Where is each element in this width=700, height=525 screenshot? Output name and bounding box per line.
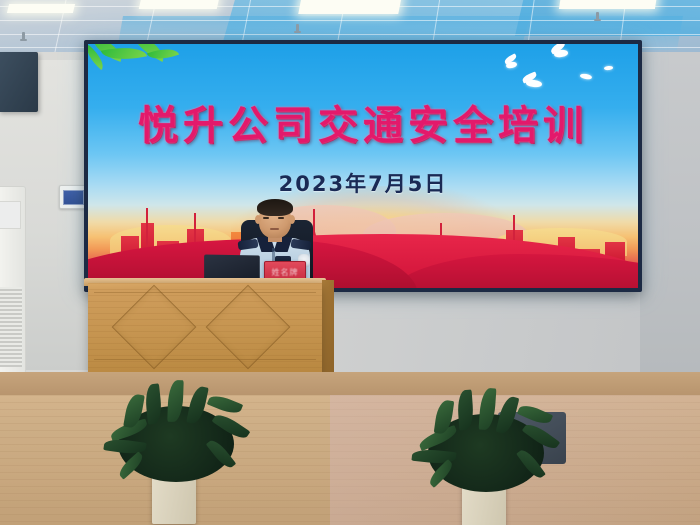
nameplate-text: 姓名牌: [265, 267, 305, 278]
floor-air-conditioner: [0, 186, 26, 374]
recessed-ceiling-light: [559, 0, 657, 9]
screen-date: 2023年7月5日: [88, 168, 638, 198]
mouth: [270, 228, 279, 230]
right-wall: [640, 28, 700, 373]
sprinkler-head: [596, 12, 599, 20]
podium-trim-line: [94, 359, 316, 360]
eye-left: [263, 217, 269, 219]
ear-left: [255, 215, 261, 224]
training-room-photo: 悦升公司交通安全培训 2023年7月5日 姓名牌: [0, 0, 700, 525]
recessed-ceiling-light: [298, 0, 401, 14]
recessed-ceiling-light: [139, 0, 220, 9]
ac-display-panel[interactable]: [0, 201, 21, 229]
ear-right: [289, 215, 295, 224]
sprinkler-head: [22, 32, 25, 40]
podium-trim-line: [94, 292, 316, 293]
recessed-ceiling-light: [7, 4, 75, 13]
wall-speaker: [0, 52, 38, 112]
led-screen-display[interactable]: 悦升公司交通安全培训 2023年7月5日: [88, 44, 638, 288]
wooden-podium: [88, 283, 322, 375]
wall-control-panel[interactable]: [59, 185, 87, 209]
presenter-hair: [257, 199, 293, 216]
screen-title: 悦升公司交通安全培训: [88, 93, 638, 151]
ac-vent-grille: [0, 287, 22, 367]
control-panel-screen: [63, 190, 84, 205]
ceiling-grid-line: [0, 34, 700, 35]
sprinkler-head: [296, 24, 299, 32]
podium-side-panel: [322, 280, 334, 375]
eye-right: [278, 217, 284, 219]
